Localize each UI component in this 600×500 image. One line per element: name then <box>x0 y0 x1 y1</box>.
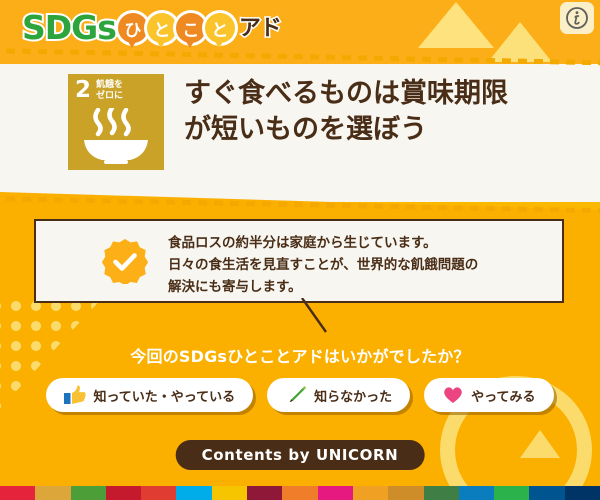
sdg-goal-caption: 飢餓を ゼロに <box>96 80 123 103</box>
sdg-goal-tile: 2 飢餓を ゼロに <box>68 74 164 170</box>
decorative-triangle-icon <box>418 2 494 48</box>
sdg-goal-number: 2 <box>75 79 91 102</box>
logo-speech-bubbles: ひ と こ と <box>118 13 234 43</box>
info-callout-text: 食品ロスの約半分は家庭から生じています。 日々の食生活を見直すことが、世界的な飢… <box>168 233 548 299</box>
sdg-strip-segment <box>529 486 564 500</box>
speech-bubble-icon: ひ <box>118 13 148 43</box>
headline-line-2: が短いものを選ぼう <box>184 112 588 148</box>
sdg-strip-segment <box>459 486 494 500</box>
heart-icon <box>442 385 464 405</box>
sdg-strip-segment <box>494 486 529 500</box>
sdg-color-strip <box>0 486 600 500</box>
survey-option-label: やってみる <box>471 386 535 405</box>
sdg-strip-segment <box>282 486 317 500</box>
survey-question: 今回のSDGsひとことアドはいかがでしたか？ <box>0 343 600 367</box>
sdg-strip-segment <box>353 486 388 500</box>
survey-options: 知っていた・やっている 知らなかった やってみる <box>0 378 600 412</box>
survey-option-label: 知っていた・やっている <box>93 386 235 405</box>
pencil-icon <box>285 385 307 405</box>
thumbs-up-icon <box>64 385 86 405</box>
headline-line-1: すぐ食べるものは賞味期限 <box>184 76 588 112</box>
survey-option-didnt-know[interactable]: 知らなかった <box>267 378 410 412</box>
info-line-3: 解決にも寄与します。 <box>168 277 548 299</box>
brand-logo: SDGs ひ と こ と アド <box>22 10 281 44</box>
sdg-strip-segment <box>424 486 459 500</box>
info-line-2: 日々の食生活を見直すことが、世界的な飢餓問題の <box>168 255 548 277</box>
survey-option-will-try[interactable]: やってみる <box>424 378 553 412</box>
bubble-char: と <box>211 16 228 41</box>
info-icon[interactable] <box>560 2 594 34</box>
sdg-strip-segment <box>141 486 176 500</box>
sdg-strip-segment <box>212 486 247 500</box>
info-callout-box: 食品ロスの約半分は家庭から生じています。 日々の食生活を見直すことが、世界的な飢… <box>34 219 564 303</box>
sdg-strip-segment <box>247 486 282 500</box>
footer-credit: Contents by UNICORN <box>176 440 425 470</box>
info-line-1: 食品ロスの約半分は家庭から生じています。 <box>168 233 548 255</box>
sdg-strip-segment <box>35 486 70 500</box>
page-title: すぐ食べるものは賞味期限 が短いものを選ぼう <box>184 76 588 147</box>
bubble-char: こ <box>182 16 199 41</box>
callout-tail <box>300 298 332 334</box>
survey-option-label: 知らなかった <box>314 386 392 405</box>
logo-sdgs-text: SDGs <box>22 11 116 44</box>
sdg-strip-segment <box>565 486 600 500</box>
sdg-strip-segment <box>71 486 106 500</box>
logo-ad-text: アド <box>239 10 281 42</box>
speech-bubble-icon: と <box>205 13 235 43</box>
decorative-triangle-icon <box>520 430 560 458</box>
sdg-strip-segment <box>388 486 423 500</box>
steaming-bowl-icon <box>68 108 164 166</box>
speech-bubble-icon: こ <box>176 13 206 43</box>
bubble-char: ひ <box>124 16 141 41</box>
speech-bubble-icon: と <box>147 13 177 43</box>
check-circle-icon <box>102 238 148 284</box>
survey-option-knew-it[interactable]: 知っていた・やっている <box>46 378 253 412</box>
decorative-triangle-icon <box>488 22 552 62</box>
sdg-strip-segment <box>176 486 211 500</box>
sdg-strip-segment <box>106 486 141 500</box>
sdg-caption-line2: ゼロに <box>96 91 123 102</box>
sdg-strip-segment <box>318 486 353 500</box>
bubble-char: と <box>153 16 170 41</box>
sdg-strip-segment <box>0 486 35 500</box>
sdg-ad-card: SDGs ひ と こ と アド 2 飢餓を ゼロに <box>0 0 600 500</box>
sdg-caption-line1: 飢餓を <box>96 80 123 91</box>
